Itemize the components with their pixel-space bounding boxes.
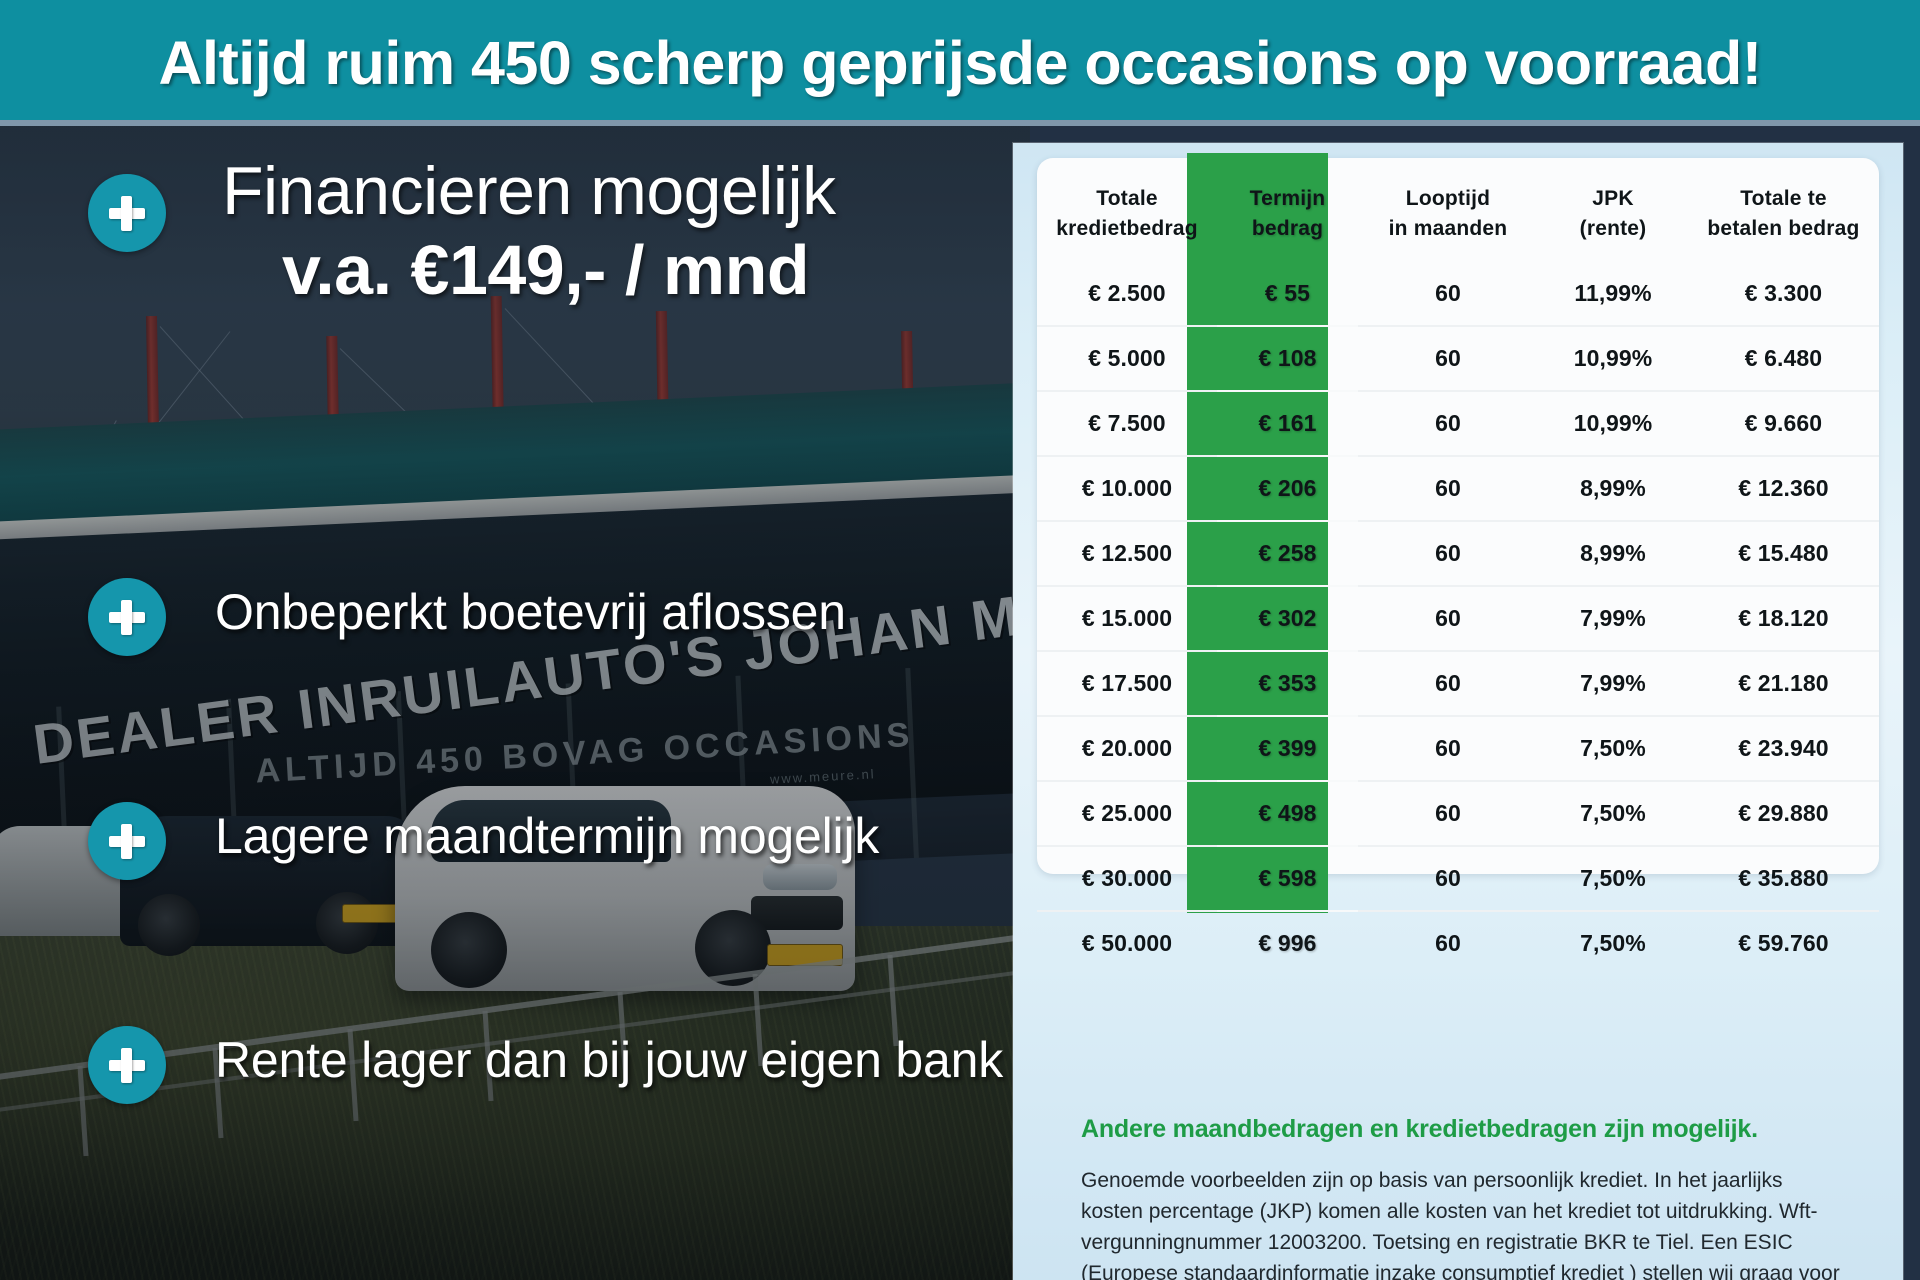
table-row: € 15.000€ 302607,99%€ 18.120 [1037,586,1879,651]
cell-termijn_bedrag: € 399 [1217,716,1358,781]
table-row: € 10.000€ 206608,99%€ 12.360 [1037,456,1879,521]
cell-totale_te_betalen_bedrag: € 18.120 [1688,586,1879,651]
disclaimer-title: Andere maandbedragen en kredietbedragen … [1081,1115,1871,1144]
header-line-2: kredietbedrag [1037,214,1217,244]
table-body: € 2.500€ 556011,99%€ 3.300€ 5.000€ 10860… [1037,262,1879,975]
cell-totale_kredietbedrag: € 12.500 [1037,521,1217,586]
top-banner: Altijd ruim 450 scherp geprijsde occasio… [0,0,1920,126]
table-header: Totale kredietbedrag Termijn bedrag Loop… [1037,158,1879,262]
banner-headline: Altijd ruim 450 scherp geprijsde occasio… [158,28,1761,98]
cell-looptijd_in_maanden: 60 [1358,911,1538,975]
cell-totale_te_betalen_bedrag: € 23.940 [1688,716,1879,781]
cell-totale_te_betalen_bedrag: € 12.360 [1688,456,1879,521]
cell-totale_kredietbedrag: € 50.000 [1037,911,1217,975]
cell-looptijd_in_maanden: 60 [1358,262,1538,326]
cell-termijn_bedrag: € 996 [1217,911,1358,975]
plus-icon [88,174,166,252]
cell-looptijd_in_maanden: 60 [1358,846,1538,911]
cell-jpk_rente: 8,99% [1538,521,1688,586]
cell-totale_kredietbedrag: € 15.000 [1037,586,1217,651]
cell-jpk_rente: 11,99% [1538,262,1688,326]
cell-jpk_rente: 7,50% [1538,846,1688,911]
promo-content: Financieren mogelijk v.a. €149,- / mnd O… [0,126,1030,1280]
plus-icon [88,802,166,880]
cell-termijn_bedrag: € 302 [1217,586,1358,651]
cell-totale_te_betalen_bedrag: € 3.300 [1688,262,1879,326]
header-line-1: Termijn [1217,184,1358,214]
financing-panel: Totale kredietbedrag Termijn bedrag Loop… [1013,143,1903,1280]
promo-bullet-3: Rente lager dan bij jouw eigen bank [215,1031,1003,1089]
table-row: € 20.000€ 399607,50%€ 23.940 [1037,716,1879,781]
table-row: € 12.500€ 258608,99%€ 15.480 [1037,521,1879,586]
table-row: € 25.000€ 498607,50%€ 29.880 [1037,781,1879,846]
cell-jpk_rente: 7,99% [1538,651,1688,716]
promo-headline-line2: v.a. €149,- / mnd [282,230,809,310]
cell-totale_te_betalen_bedrag: € 35.880 [1688,846,1879,911]
header-line-2: betalen bedrag [1688,214,1879,244]
cell-looptijd_in_maanden: 60 [1358,651,1538,716]
promo-bullet-1: Onbeperkt boetevrij aflossen [215,583,846,641]
cell-totale_kredietbedrag: € 2.500 [1037,262,1217,326]
cell-jpk_rente: 10,99% [1538,326,1688,391]
advertisement-page: Altijd ruim 450 scherp geprijsde occasio… [0,0,1920,1280]
cell-termijn_bedrag: € 353 [1217,651,1358,716]
table-row: € 30.000€ 598607,50%€ 35.880 [1037,846,1879,911]
table-row: € 7.500€ 1616010,99%€ 9.660 [1037,391,1879,456]
cell-looptijd_in_maanden: 60 [1358,716,1538,781]
table-row: € 17.500€ 353607,99%€ 21.180 [1037,651,1879,716]
cell-totale_kredietbedrag: € 25.000 [1037,781,1217,846]
cell-looptijd_in_maanden: 60 [1358,326,1538,391]
header-line-1: Totale [1037,184,1217,214]
cell-jpk_rente: 10,99% [1538,391,1688,456]
cell-totale_kredietbedrag: € 17.500 [1037,651,1217,716]
plus-icon [88,1026,166,1104]
disclaimer-body: Genoemde voorbeelden zijn op basis van p… [1081,1165,1841,1280]
cell-jpk_rente: 7,50% [1538,911,1688,975]
column-header-totale-te-betalen: Totale te betalen bedrag [1688,158,1879,262]
cell-totale_kredietbedrag: € 7.500 [1037,391,1217,456]
cell-looptijd_in_maanden: 60 [1358,456,1538,521]
cell-looptijd_in_maanden: 60 [1358,521,1538,586]
cell-totale_te_betalen_bedrag: € 59.760 [1688,911,1879,975]
cell-jpk_rente: 8,99% [1538,456,1688,521]
cell-totale_kredietbedrag: € 5.000 [1037,326,1217,391]
cell-termijn_bedrag: € 206 [1217,456,1358,521]
financing-rates-table: Totale kredietbedrag Termijn bedrag Loop… [1037,158,1879,975]
header-line-1: JPK [1538,184,1688,214]
cell-termijn_bedrag: € 598 [1217,846,1358,911]
rates-card: Totale kredietbedrag Termijn bedrag Loop… [1037,158,1879,874]
column-header-looptijd: Looptijd in maanden [1358,158,1538,262]
promo-bullet-2: Lagere maandtermijn mogelijk [215,807,879,865]
table-row: € 2.500€ 556011,99%€ 3.300 [1037,262,1879,326]
cell-termijn_bedrag: € 258 [1217,521,1358,586]
cell-totale_kredietbedrag: € 10.000 [1037,456,1217,521]
header-line-2: bedrag [1217,214,1358,244]
cell-totale_kredietbedrag: € 30.000 [1037,846,1217,911]
cell-totale_te_betalen_bedrag: € 15.480 [1688,521,1879,586]
promo-headline-line1: Financieren mogelijk [222,152,836,230]
header-line-1: Looptijd [1358,184,1538,214]
cell-termijn_bedrag: € 55 [1217,262,1358,326]
cell-termijn_bedrag: € 498 [1217,781,1358,846]
cell-jpk_rente: 7,50% [1538,781,1688,846]
table-row: € 50.000€ 996607,50%€ 59.760 [1037,911,1879,975]
header-line-2: (rente) [1538,214,1688,244]
cell-looptijd_in_maanden: 60 [1358,391,1538,456]
cell-totale_kredietbedrag: € 20.000 [1037,716,1217,781]
table-row: € 5.000€ 1086010,99%€ 6.480 [1037,326,1879,391]
table-header-row: Totale kredietbedrag Termijn bedrag Loop… [1037,158,1879,262]
cell-looptijd_in_maanden: 60 [1358,586,1538,651]
cell-termijn_bedrag: € 108 [1217,326,1358,391]
cell-jpk_rente: 7,99% [1538,586,1688,651]
header-line-2: in maanden [1358,214,1538,244]
cell-totale_te_betalen_bedrag: € 6.480 [1688,326,1879,391]
cell-looptijd_in_maanden: 60 [1358,781,1538,846]
cell-totale_te_betalen_bedrag: € 29.880 [1688,781,1879,846]
cell-termijn_bedrag: € 161 [1217,391,1358,456]
column-header-termijn-bedrag: Termijn bedrag [1217,158,1358,262]
column-header-totale-kredietbedrag: Totale kredietbedrag [1037,158,1217,262]
header-line-1: Totale te [1688,184,1879,214]
plus-icon [88,578,166,656]
cell-totale_te_betalen_bedrag: € 9.660 [1688,391,1879,456]
cell-jpk_rente: 7,50% [1538,716,1688,781]
column-header-jpk: JPK (rente) [1538,158,1688,262]
cell-totale_te_betalen_bedrag: € 21.180 [1688,651,1879,716]
